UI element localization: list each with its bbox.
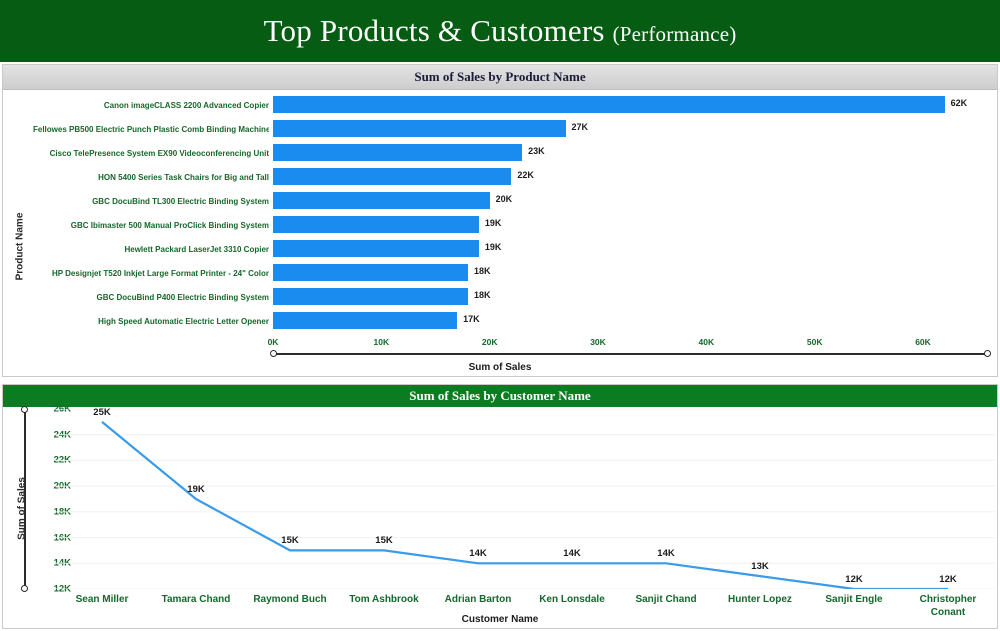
bar-x-tick-label: 0K <box>268 337 279 347</box>
page-title: Top Products & Customers (Performance) <box>264 13 737 49</box>
bar-row[interactable]: Cisco TelePresence System EX90 Videoconf… <box>3 141 999 165</box>
line-x-category-label: Hunter Lopez <box>714 593 806 606</box>
line-point-label: 12K <box>845 574 862 585</box>
bar-x-tick-label: 60K <box>915 337 931 347</box>
bar-row[interactable]: GBC DocuBind TL300 Electric Binding Syst… <box>3 189 999 213</box>
bar-value-label: 19K <box>485 242 502 252</box>
line-point-label: 12K <box>939 574 956 585</box>
bar-category-label: GBC DocuBind TL300 Electric Binding Syst… <box>33 197 269 206</box>
page-title-sub: (Performance) <box>613 22 737 46</box>
bar-row[interactable]: Hewlett Packard LaserJet 3310 Copier19K <box>3 237 999 261</box>
bar-category-label: HON 5400 Series Task Chairs for Big and … <box>33 173 269 182</box>
bar-track: 62K <box>273 93 991 117</box>
bar-value-label: 18K <box>474 290 491 300</box>
bar-row[interactable]: GBC Ibimaster 500 Manual ProClick Bindin… <box>3 213 999 237</box>
line-x-category-label: Sean Miller <box>56 593 148 606</box>
line-chart-header: Sum of Sales by Customer Name <box>3 385 997 407</box>
line-x-category-label: Tom Ashbrook <box>338 593 430 606</box>
line-chart-x-axis-title: Customer Name <box>3 614 997 625</box>
axis-start-handle[interactable] <box>270 350 277 357</box>
bar-category-label: GBC DocuBind P400 Electric Binding Syste… <box>33 293 269 302</box>
axis-top-handle[interactable] <box>21 406 28 413</box>
bar-row[interactable]: HP Designjet T520 Inkjet Large Format Pr… <box>3 261 999 285</box>
line-chart-svg <box>55 409 995 589</box>
bar-chart-panel[interactable]: Sum of Sales by Product Name Product Nam… <box>2 64 998 377</box>
bar-fill[interactable] <box>273 96 945 113</box>
line-x-category-label: Sanjit Engle <box>808 593 900 606</box>
bar-fill[interactable] <box>273 240 479 257</box>
line-chart-plot-area[interactable]: 25K19K15K15K14K14K14K13K12K12K <box>55 409 995 589</box>
line-point-label: 25K <box>93 407 110 418</box>
bar-track: 19K <box>273 237 991 261</box>
line-point-label: 14K <box>563 548 580 559</box>
bar-row[interactable]: GBC DocuBind P400 Electric Binding Syste… <box>3 285 999 309</box>
line-point-label: 19K <box>187 484 204 495</box>
bar-track: 20K <box>273 189 991 213</box>
bar-row[interactable]: Canon imageCLASS 2200 Advanced Copier62K <box>3 93 999 117</box>
bar-x-tick-label: 30K <box>590 337 606 347</box>
bar-category-label: Cisco TelePresence System EX90 Videoconf… <box>33 149 269 158</box>
bar-category-label: High Speed Automatic Electric Letter Ope… <box>33 317 269 326</box>
bar-category-label: Fellowes PB500 Electric Punch Plastic Co… <box>33 125 269 134</box>
bar-fill[interactable] <box>273 312 457 329</box>
line-x-category-label: Ken Lonsdale <box>526 593 618 606</box>
bar-track: 18K <box>273 285 991 309</box>
line-point-label: 13K <box>751 561 768 572</box>
bar-x-tick-label: 20K <box>482 337 498 347</box>
bar-category-label: Hewlett Packard LaserJet 3310 Copier <box>33 245 269 254</box>
line-x-category-label: Tamara Chand <box>150 593 242 606</box>
bar-x-tick-label: 40K <box>699 337 715 347</box>
bar-chart-rows: Canon imageCLASS 2200 Advanced Copier62K… <box>3 93 999 333</box>
line-x-category-label: Adrian Barton <box>432 593 524 606</box>
line-chart-title: Sum of Sales by Customer Name <box>409 388 590 404</box>
bar-value-label: 23K <box>528 146 545 156</box>
axis-end-handle[interactable] <box>984 350 991 357</box>
bar-fill[interactable] <box>273 120 566 137</box>
bar-value-label: 20K <box>496 194 513 204</box>
bar-category-label: HP Designjet T520 Inkjet Large Format Pr… <box>33 269 269 278</box>
bar-value-label: 22K <box>517 170 534 180</box>
bar-value-label: 19K <box>485 218 502 228</box>
line-x-category-label: Raymond Buch <box>244 593 336 606</box>
bar-chart-x-axis-line <box>273 353 988 355</box>
line-series-path[interactable] <box>102 422 948 589</box>
bar-chart-title: Sum of Sales by Product Name <box>414 69 585 85</box>
bar-chart-x-axis-title: Sum of Sales <box>3 362 997 373</box>
bar-track: 22K <box>273 165 991 189</box>
bar-track: 23K <box>273 141 991 165</box>
line-point-label: 15K <box>375 535 392 546</box>
bar-fill[interactable] <box>273 192 490 209</box>
bar-value-label: 18K <box>474 266 491 276</box>
bar-fill[interactable] <box>273 168 511 185</box>
line-point-label: 14K <box>469 548 486 559</box>
dashboard-banner: Top Products & Customers (Performance) <box>0 0 1000 62</box>
bar-chart-header: Sum of Sales by Product Name <box>3 65 997 90</box>
bar-fill[interactable] <box>273 144 522 161</box>
bar-row[interactable]: High Speed Automatic Electric Letter Ope… <box>3 309 999 333</box>
bar-track: 27K <box>273 117 991 141</box>
bar-value-label: 62K <box>951 98 968 108</box>
line-point-label: 14K <box>657 548 674 559</box>
bar-category-label: Canon imageCLASS 2200 Advanced Copier <box>33 101 269 110</box>
bar-row[interactable]: HON 5400 Series Task Chairs for Big and … <box>3 165 999 189</box>
line-chart-y-axis-line <box>24 409 26 589</box>
bar-x-tick-label: 10K <box>374 337 390 347</box>
bar-value-label: 17K <box>463 314 480 324</box>
line-chart-panel[interactable]: Sum of Sales by Customer Name Sum of Sal… <box>2 384 998 629</box>
page-title-main: Top Products & Customers <box>264 13 613 48</box>
bar-track: 18K <box>273 261 991 285</box>
dashboard-root: Top Products & Customers (Performance) S… <box>0 0 1000 631</box>
bar-row[interactable]: Fellowes PB500 Electric Punch Plastic Co… <box>3 117 999 141</box>
line-point-label: 15K <box>281 535 298 546</box>
bar-fill[interactable] <box>273 288 468 305</box>
bar-fill[interactable] <box>273 264 468 281</box>
line-x-category-label: Sanjit Chand <box>620 593 712 606</box>
bar-fill[interactable] <box>273 216 479 233</box>
bar-x-tick-label: 50K <box>807 337 823 347</box>
bar-track: 17K <box>273 309 991 333</box>
bar-track: 19K <box>273 213 991 237</box>
axis-bottom-handle[interactable] <box>21 585 28 592</box>
bar-value-label: 27K <box>572 122 589 132</box>
bar-category-label: GBC Ibimaster 500 Manual ProClick Bindin… <box>33 221 269 230</box>
